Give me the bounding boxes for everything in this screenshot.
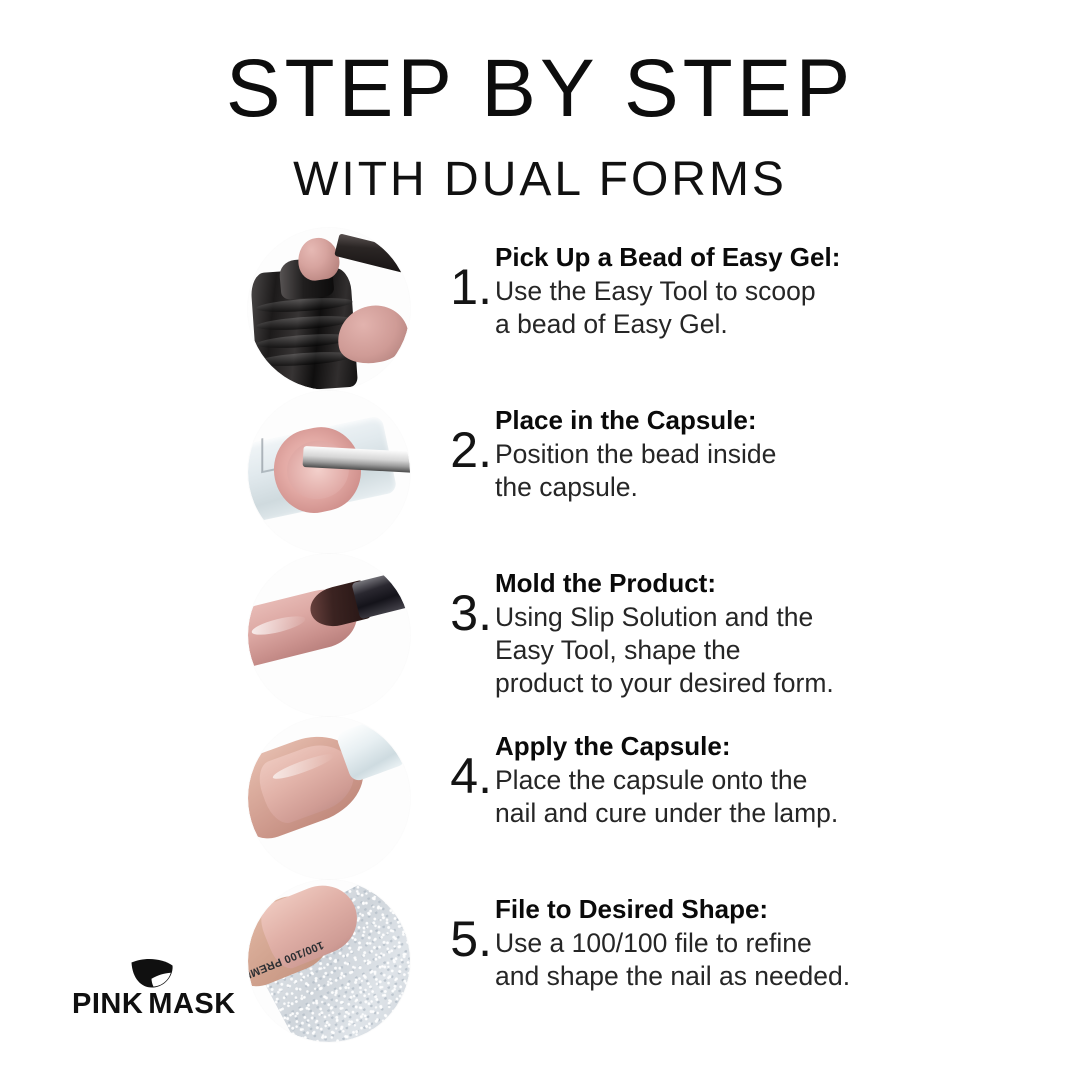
step-number: 5. xyxy=(440,914,492,964)
step-description: Place the capsule onto the nail and cure… xyxy=(495,764,1015,830)
step-text-block: File to Desired Shape: Use a 100/100 fil… xyxy=(495,894,1015,993)
step-description-line: Place the capsule onto the xyxy=(495,764,1015,797)
step-description: Use the Easy Tool to scoop a bead of Eas… xyxy=(495,275,1015,341)
step-number: 1. xyxy=(440,262,492,312)
step-number: 4. xyxy=(440,751,492,801)
brand-wordmark: PINKMASK xyxy=(72,990,232,1019)
step-photo-3 xyxy=(248,554,410,716)
step-photo-5: 100/100 PREMIUM | ZEBRA xyxy=(248,880,410,1042)
step-description-line: the capsule. xyxy=(495,471,1015,504)
list-item: 2. Place in the Capsule: Position the be… xyxy=(0,391,1080,554)
step-number: 2. xyxy=(440,425,492,475)
step-description-line: a bead of Easy Gel. xyxy=(495,308,1015,341)
step-number: 3. xyxy=(440,588,492,638)
steps-list: 1. Pick Up a Bead of Easy Gel: Use the E… xyxy=(0,228,1080,1043)
step-description-line: product to your desired form. xyxy=(495,667,1015,700)
poster-canvas: STEP BY STEP WITH DUAL FORMS xyxy=(0,0,1080,1080)
step-photo-1 xyxy=(248,228,410,390)
list-item: 1. Pick Up a Bead of Easy Gel: Use the E… xyxy=(0,228,1080,391)
step-heading: Pick Up a Bead of Easy Gel: xyxy=(495,242,1015,273)
page-title: STEP BY STEP xyxy=(0,48,1080,130)
header: STEP BY STEP WITH DUAL FORMS xyxy=(0,48,1080,204)
brand-logo: PINKMASK xyxy=(72,958,232,1019)
capsule-application-photo xyxy=(248,717,410,879)
nail-filing-photo: 100/100 PREMIUM | ZEBRA xyxy=(248,880,410,1042)
list-item: 4. Apply the Capsule: Place the capsule … xyxy=(0,717,1080,880)
step-heading: Place in the Capsule: xyxy=(495,405,1015,436)
step-heading: File to Desired Shape: xyxy=(495,894,1015,925)
brand-word-mask: MASK xyxy=(148,988,235,1020)
step-photo-2 xyxy=(248,391,410,553)
step-description: Position the bead inside the capsule. xyxy=(495,438,1015,504)
dual-form-capsule-photo xyxy=(248,391,410,553)
step-description-line: and shape the nail as needed. xyxy=(495,960,1015,993)
step-text-block: Place in the Capsule: Position the bead … xyxy=(495,405,1015,504)
step-text-block: Pick Up a Bead of Easy Gel: Use the Easy… xyxy=(495,242,1015,341)
step-photo-4 xyxy=(248,717,410,879)
step-description-line: nail and cure under the lamp. xyxy=(495,797,1015,830)
brush-molding-photo xyxy=(248,554,410,716)
step-heading: Apply the Capsule: xyxy=(495,731,1015,762)
step-description-line: Use the Easy Tool to scoop xyxy=(495,275,1015,308)
leaf-icon xyxy=(129,958,175,988)
step-text-block: Apply the Capsule: Place the capsule ont… xyxy=(495,731,1015,830)
step-description-line: Use a 100/100 file to refine xyxy=(495,927,1015,960)
step-heading: Mold the Product: xyxy=(495,568,1015,599)
list-item: 3. Mold the Product: Using Slip Solution… xyxy=(0,554,1080,717)
step-description-line: Using Slip Solution and the xyxy=(495,601,1015,634)
step-description: Use a 100/100 file to refine and shape t… xyxy=(495,927,1015,993)
gel-bottle-photo xyxy=(248,228,410,390)
step-text-block: Mold the Product: Using Slip Solution an… xyxy=(495,568,1015,700)
step-description-line: Position the bead inside xyxy=(495,438,1015,471)
step-description-line: Easy Tool, shape the xyxy=(495,634,1015,667)
brand-word-pink: PINK xyxy=(72,988,143,1020)
step-description: Using Slip Solution and the Easy Tool, s… xyxy=(495,601,1015,700)
page-subtitle: WITH DUAL FORMS xyxy=(0,156,1080,204)
